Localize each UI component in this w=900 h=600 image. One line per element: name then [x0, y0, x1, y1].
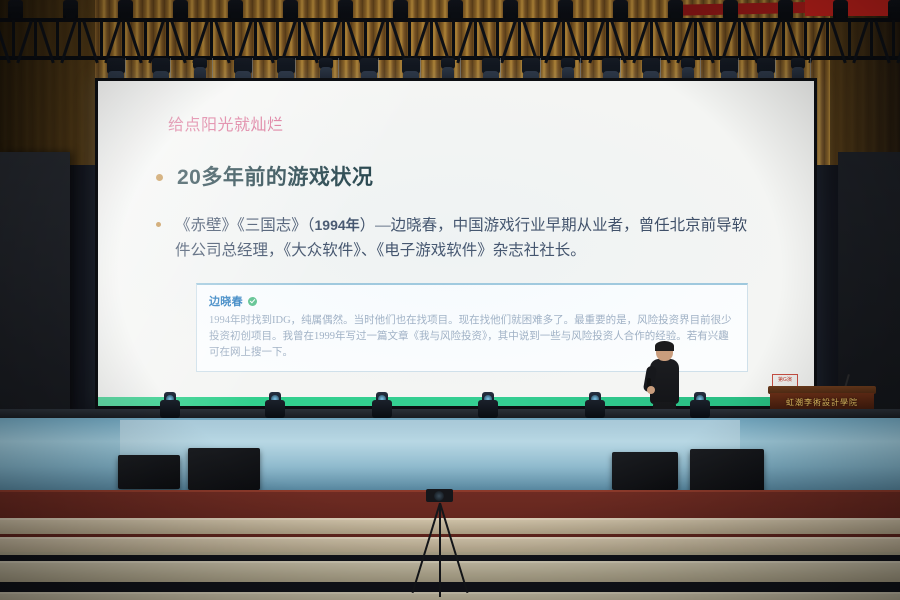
light-cable	[775, 58, 776, 80]
truss-vertical	[430, 20, 433, 58]
slide-heading-row: 20多年前的游戏状况	[156, 161, 774, 191]
audience-member-head	[708, 502, 723, 520]
floor-moving-light	[372, 392, 392, 418]
light-cable	[378, 58, 379, 80]
light-cable	[212, 58, 213, 80]
audience-member-head	[213, 502, 228, 520]
truss-vertical	[254, 20, 257, 58]
camera-on-tripod	[418, 489, 462, 597]
truss-vertical	[782, 20, 785, 58]
audience-member-head	[183, 502, 198, 520]
truss-vertical	[474, 20, 477, 58]
auditorium-scene: 给点阳光就灿烂 20多年前的游戏状况 《赤壁》《三国志》（1994年）—边晓春，…	[0, 0, 900, 600]
slide-heading: 20多年前的游戏状况	[177, 161, 373, 191]
slide-kicker: 给点阳光就灿烂	[168, 111, 774, 135]
presenter-hair	[655, 341, 674, 351]
audience-member-head	[461, 502, 476, 520]
floor-light-base	[160, 400, 180, 418]
audience-member-head	[306, 502, 321, 520]
light-cable	[580, 58, 581, 80]
heading-bullet-icon	[156, 174, 163, 181]
light-cable	[338, 58, 339, 80]
truss-vertical	[298, 20, 301, 58]
light-cable	[540, 58, 541, 80]
floor-light-base	[265, 400, 285, 418]
truss-vertical	[606, 20, 609, 58]
audience-member-head	[832, 502, 847, 520]
floor-moving-light	[478, 392, 498, 418]
tripod-leg	[439, 503, 441, 597]
stage-monitor	[690, 449, 764, 493]
truss-vertical	[12, 20, 15, 58]
light-cable	[738, 58, 739, 80]
audience-member-head	[275, 502, 290, 520]
audience-member-head	[121, 502, 136, 520]
light-cable	[295, 58, 296, 80]
audience-member-head	[17, 502, 32, 520]
truss-vertical	[518, 20, 521, 58]
truss-vertical	[232, 20, 235, 58]
truss-vertical	[166, 20, 169, 58]
projection-screen: 给点阳光就灿烂 20多年前的游戏状况 《赤壁》《三国志》（1994年）—边晓春，…	[95, 78, 817, 409]
verified-badge-icon	[248, 297, 257, 306]
truss-vertical	[584, 20, 587, 58]
audience-member-head	[48, 502, 63, 520]
audience-member-head	[337, 502, 352, 520]
truss-vertical	[144, 20, 147, 58]
truss-vertical	[716, 20, 719, 58]
audience-member-head	[492, 502, 507, 520]
audience-member-head	[646, 502, 661, 520]
presenter-hand	[647, 386, 655, 394]
audience-member-shoulders	[893, 589, 900, 600]
truss-vertical	[870, 20, 873, 58]
truss-vertical	[562, 20, 565, 58]
audience-member-head	[894, 502, 900, 520]
light-cable	[660, 58, 661, 80]
audience-member-head	[584, 502, 599, 520]
light-cable	[420, 58, 421, 80]
light-cable	[460, 58, 461, 80]
slide-body: 《赤壁》《三国志》（1994年）—边晓春，中国游戏行业早期从业者，曾任北京前导软…	[175, 213, 760, 263]
truss-vertical	[210, 20, 213, 58]
truss-vertical	[320, 20, 323, 58]
podium-sign-text: 第G演	[773, 375, 797, 385]
truss-vertical	[496, 20, 499, 58]
audience-member-head	[863, 502, 878, 520]
truss-vertical	[650, 20, 653, 58]
audience-member-head	[801, 502, 816, 520]
floor-moving-light	[690, 392, 710, 418]
light-cable	[810, 58, 811, 80]
truss-vertical	[276, 20, 279, 58]
truss-chord-top	[0, 18, 900, 22]
quote-author-row: 边晓春	[209, 293, 735, 309]
audience-member-head	[677, 502, 692, 520]
truss-vertical	[56, 20, 59, 58]
light-cable	[252, 58, 253, 80]
truss-vertical	[100, 20, 103, 58]
light-cable	[700, 58, 701, 80]
light-cable	[170, 58, 171, 80]
truss-vertical	[804, 20, 807, 58]
truss-vertical	[826, 20, 829, 58]
audience-member-head	[152, 502, 167, 520]
truss-vertical	[408, 20, 411, 58]
light-cable	[620, 58, 621, 80]
audience-member-head	[368, 502, 383, 520]
slide-body-row: 《赤壁》《三国志》（1994年）—边晓春，中国游戏行业早期从业者，曾任北京前导软…	[156, 213, 774, 263]
body-year: 1994年	[315, 217, 360, 233]
light-cable	[125, 58, 126, 80]
body-text-part1: 《赤壁》《三国志》（	[175, 217, 315, 234]
quote-author: 边晓春	[209, 293, 243, 309]
floor-moving-light	[585, 392, 605, 418]
truss-vertical	[540, 20, 543, 58]
truss-vertical	[848, 20, 851, 58]
podium-engraved-text: 虹潮李術設計學院	[786, 397, 858, 408]
truss-vertical	[386, 20, 389, 58]
floor-light-base	[478, 400, 498, 418]
truss-vertical	[364, 20, 367, 58]
audience-member-head	[399, 502, 414, 520]
floor-light-base	[690, 400, 710, 418]
audience-member-head	[244, 502, 259, 520]
truss-vertical	[188, 20, 191, 58]
stage-monitor	[118, 455, 180, 489]
presentation-slide: 给点阳光就灿烂 20多年前的游戏状况 《赤壁》《三国志》（1994年）—边晓春，…	[98, 81, 814, 406]
floor-light-base	[372, 400, 392, 418]
audience-member-head	[523, 502, 538, 520]
audience-member-head	[770, 502, 785, 520]
body-bullet-icon	[156, 222, 161, 227]
light-cable	[500, 58, 501, 80]
truss-vertical	[34, 20, 37, 58]
truss-vertical	[738, 20, 741, 58]
camera-lens-icon	[434, 491, 444, 501]
audience-member-head	[554, 502, 569, 520]
audience-member-head	[90, 502, 105, 520]
truss-vertical	[628, 20, 631, 58]
screen-surface: 给点阳光就灿烂 20多年前的游戏状况 《赤壁》《三国志》（1994年）—边晓春，…	[98, 81, 814, 406]
truss-vertical	[892, 20, 895, 58]
truss-vertical	[342, 20, 345, 58]
truss-vertical	[122, 20, 125, 58]
stage-monitor	[612, 452, 678, 490]
truss-vertical	[452, 20, 455, 58]
truss-vertical	[78, 20, 81, 58]
truss-vertical	[760, 20, 763, 58]
truss-vertical	[672, 20, 675, 58]
lighting-truss	[0, 16, 900, 62]
audience-member-head	[615, 502, 630, 520]
truss-vertical	[694, 20, 697, 58]
audience-member-head	[739, 502, 754, 520]
truss-diagonal	[896, 21, 900, 64]
floor-light-base	[585, 400, 605, 418]
floor-moving-light	[265, 392, 285, 418]
floor-moving-light	[160, 392, 180, 418]
stage-monitor	[188, 448, 260, 490]
